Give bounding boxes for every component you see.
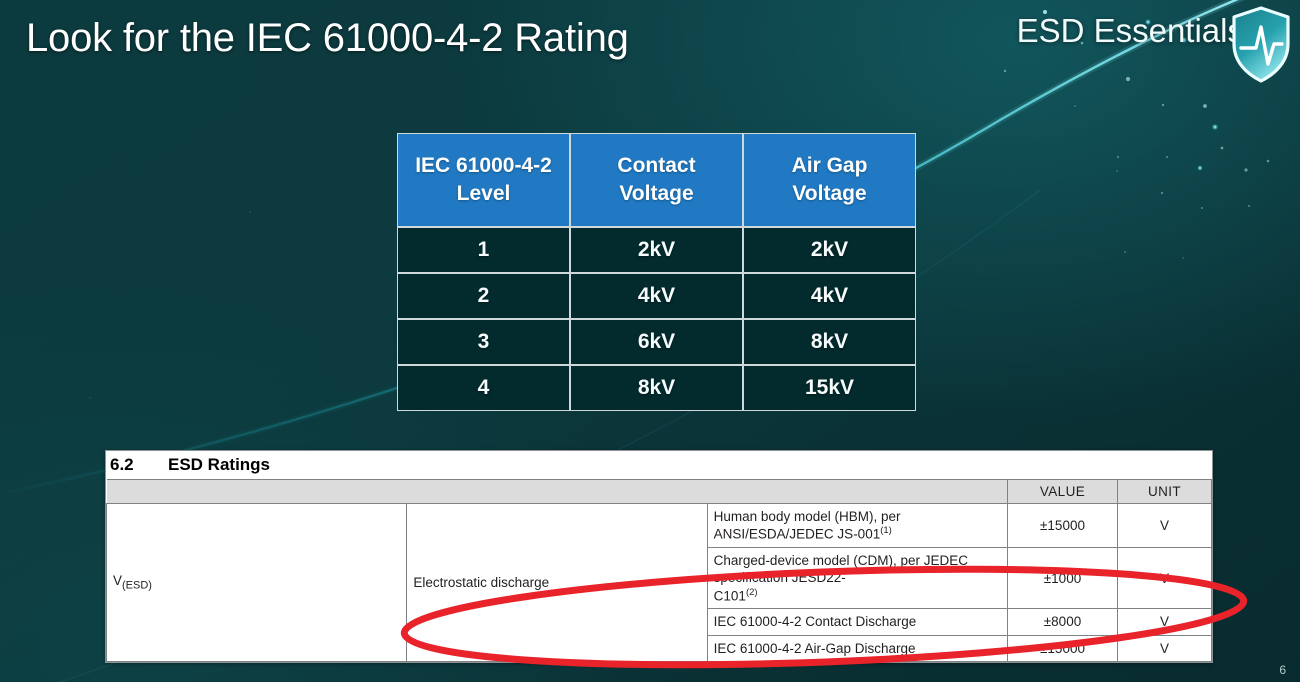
condition-text-line2: C101 (714, 588, 746, 603)
header-unit: UNIT (1118, 480, 1212, 504)
header-line-2: Voltage (792, 182, 866, 205)
header-line-2: Level (457, 182, 511, 205)
footnote-marker: (1) (880, 525, 892, 536)
cell-level: 2 (397, 273, 570, 319)
cell-contact: 6kV (570, 319, 743, 365)
header-line-2: Voltage (619, 182, 693, 205)
section-number: 6.2 (110, 455, 168, 475)
header-line-1: Air Gap (792, 154, 868, 177)
header-value: VALUE (1008, 480, 1118, 504)
table-row: 4 8kV 15kV (397, 365, 916, 411)
header-iec-level: IEC 61000-4-2 Level (397, 133, 570, 227)
esd-ratings-table: VALUE UNIT V(ESD) Electrostatic discharg… (106, 479, 1212, 662)
datasheet-header-row: VALUE UNIT (107, 480, 1212, 504)
footnote-marker: (2) (746, 587, 758, 598)
cell-condition: Human body model (HBM), per ANSI/ESDA/JE… (707, 504, 1007, 548)
cell-value: ±1000 (1008, 548, 1118, 609)
cell-level: 4 (397, 365, 570, 411)
page-number: 6 (1279, 663, 1286, 677)
symbol-text: V (113, 573, 122, 588)
brand-lockup: ESD Essentials (1017, 12, 1244, 50)
cell-airgap: 15kV (743, 365, 916, 411)
cell-unit: V (1118, 504, 1212, 548)
cell-value: ±15000 (1008, 504, 1118, 548)
condition-text: Charged-device model (CDM), per JEDEC sp… (714, 553, 968, 585)
header-air-gap-voltage: Air Gap Voltage (743, 133, 916, 227)
cell-parameter: Electrostatic discharge (407, 504, 707, 662)
iec-level-table: IEC 61000-4-2 Level Contact Voltage Air … (397, 133, 916, 411)
cell-condition: Charged-device model (CDM), per JEDEC sp… (707, 548, 1007, 609)
table-row: 3 6kV 8kV (397, 319, 916, 365)
symbol-subscript: (ESD) (122, 580, 152, 592)
cell-level: 3 (397, 319, 570, 365)
shield-pulse-icon (1230, 6, 1292, 84)
table-header-row: IEC 61000-4-2 Level Contact Voltage Air … (397, 133, 916, 227)
cell-contact: 2kV (570, 227, 743, 273)
cell-value: ±15000 (1008, 635, 1118, 661)
condition-text: Human body model (HBM), per ANSI/ESDA/JE… (714, 509, 901, 542)
section-title: ESD Ratings (168, 455, 270, 475)
table-row: V(ESD) Electrostatic discharge Human bod… (107, 504, 1212, 548)
cell-unit: V (1118, 548, 1212, 609)
cell-condition: IEC 61000-4-2 Air-Gap Discharge (707, 635, 1007, 661)
header-line-1: IEC 61000-4-2 (415, 154, 552, 177)
cell-unit: V (1118, 635, 1212, 661)
cell-airgap: 4kV (743, 273, 916, 319)
datasheet-excerpt: 6.2 ESD Ratings VALUE UNIT V(ESD) Electr… (105, 450, 1213, 663)
table-row: 2 4kV 4kV (397, 273, 916, 319)
cell-value: ±8000 (1008, 609, 1118, 635)
datasheet-section-heading: 6.2 ESD Ratings (106, 451, 1212, 479)
cell-unit: V (1118, 609, 1212, 635)
cell-contact: 4kV (570, 273, 743, 319)
cell-symbol: V(ESD) (107, 504, 407, 662)
cell-airgap: 2kV (743, 227, 916, 273)
table-row: 1 2kV 2kV (397, 227, 916, 273)
header-line-1: Contact (617, 154, 695, 177)
header-blank (107, 480, 1008, 504)
cell-condition: IEC 61000-4-2 Contact Discharge (707, 609, 1007, 635)
page-title: Look for the IEC 61000-4-2 Rating (26, 16, 629, 61)
header-contact-voltage: Contact Voltage (570, 133, 743, 227)
cell-contact: 8kV (570, 365, 743, 411)
slide-canvas: Look for the IEC 61000-4-2 Rating ESD Es… (0, 0, 1300, 682)
cell-airgap: 8kV (743, 319, 916, 365)
cell-level: 1 (397, 227, 570, 273)
brand-name: ESD Essentials (1017, 12, 1244, 50)
